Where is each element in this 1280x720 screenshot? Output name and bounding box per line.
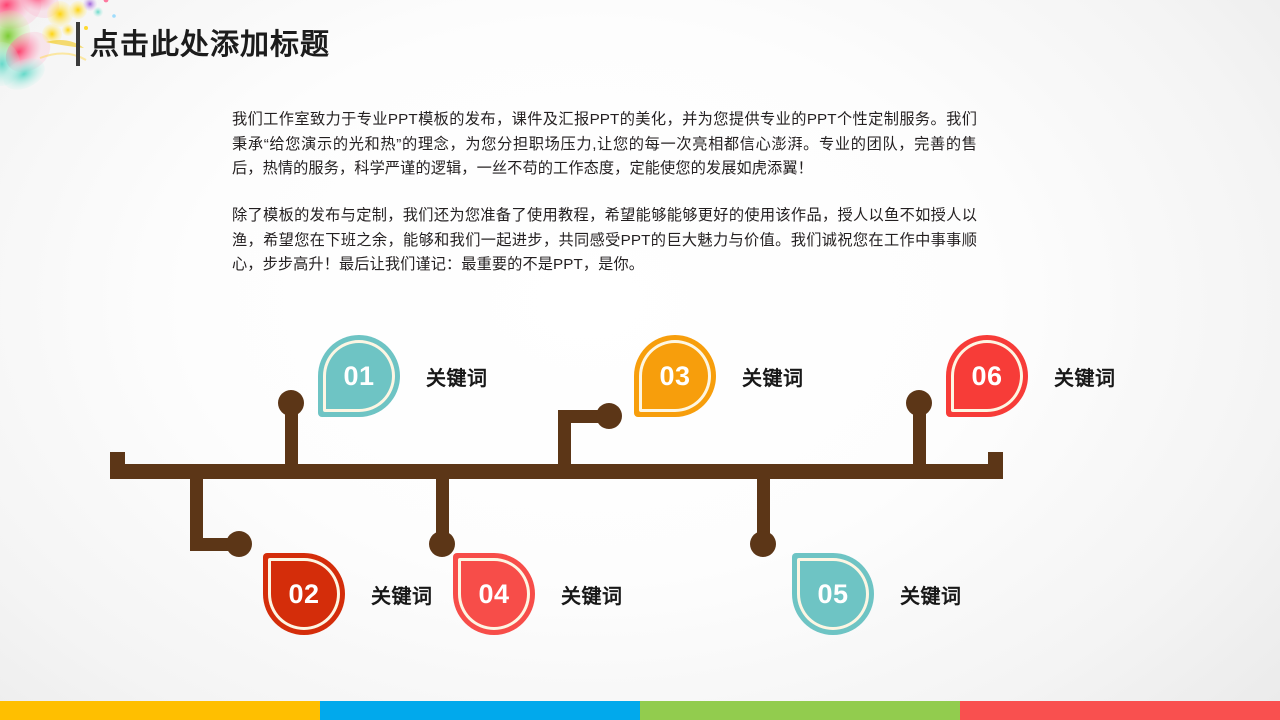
- node-label-03: 关键词: [742, 362, 804, 391]
- pin-shape-01: 01: [318, 335, 400, 417]
- node-label-02: 关键词: [371, 580, 433, 609]
- pin-shape-04: 04: [453, 553, 535, 635]
- connector-node-02-vertical: [190, 479, 203, 545]
- body-paragraph-1: 我们工作室致力于专业PPT模板的发布，课件及汇报PPT的美化，并为您提供专业的P…: [232, 108, 977, 182]
- timeline-node-05[interactable]: 05 关键词: [792, 553, 962, 635]
- node-label-06: 关键词: [1054, 362, 1116, 391]
- timeline-node-03[interactable]: 03 关键词: [634, 335, 804, 417]
- connector-dot-node-02: [226, 531, 252, 557]
- connector-dot-node-01: [278, 390, 304, 416]
- timeline-bar-cap-right: [988, 452, 1003, 464]
- pin-shape-06: 06: [946, 335, 1028, 417]
- pin-shape-02: 02: [263, 553, 345, 635]
- node-label-05: 关键词: [900, 580, 962, 609]
- page-title: 点击此处添加标题: [76, 22, 330, 68]
- page-title-text: 点击此处添加标题: [90, 31, 330, 60]
- footer-color-strip: [0, 701, 1280, 720]
- footer-segment-blue: [320, 701, 640, 720]
- pin-number-03: 03: [659, 361, 690, 392]
- timeline-node-04[interactable]: 04 关键词: [453, 553, 623, 635]
- footer-segment-amber: [0, 701, 320, 720]
- pin-number-05: 05: [817, 579, 848, 610]
- pin-number-04: 04: [478, 579, 509, 610]
- footer-segment-red: [960, 701, 1280, 720]
- body-copy: 我们工作室致力于专业PPT模板的发布，课件及汇报PPT的美化，并为您提供专业的P…: [232, 108, 977, 278]
- timeline-node-06[interactable]: 06 关键词: [946, 335, 1116, 417]
- pin-number-06: 06: [971, 361, 1002, 392]
- footer-segment-green: [640, 701, 960, 720]
- node-label-04: 关键词: [561, 580, 623, 609]
- pin-number-01: 01: [343, 361, 374, 392]
- connector-dot-node-06: [906, 390, 932, 416]
- slide-canvas: 点击此处添加标题 我们工作室致力于专业PPT模板的发布，课件及汇报PPT的美化，…: [0, 0, 1280, 720]
- timeline-node-01[interactable]: 01 关键词: [318, 335, 488, 417]
- connector-dot-node-04: [429, 531, 455, 557]
- pin-number-02: 02: [288, 579, 319, 610]
- timeline-main-bar: [110, 464, 1003, 479]
- connector-dot-node-03: [596, 403, 622, 429]
- connector-dot-node-05: [750, 531, 776, 557]
- timeline-node-02[interactable]: 02 关键词: [263, 553, 433, 635]
- body-paragraph-2: 除了模板的发布与定制，我们还为您准备了使用教程，希望能够能够更好的使用该作品，授…: [232, 204, 977, 278]
- pin-shape-05: 05: [792, 553, 874, 635]
- pin-shape-03: 03: [634, 335, 716, 417]
- node-label-01: 关键词: [426, 362, 488, 391]
- timeline-diagram: 01 关键词 03 关键词 06 关键词 02 关键词: [0, 300, 1280, 670]
- timeline-bar-cap-left: [110, 452, 125, 464]
